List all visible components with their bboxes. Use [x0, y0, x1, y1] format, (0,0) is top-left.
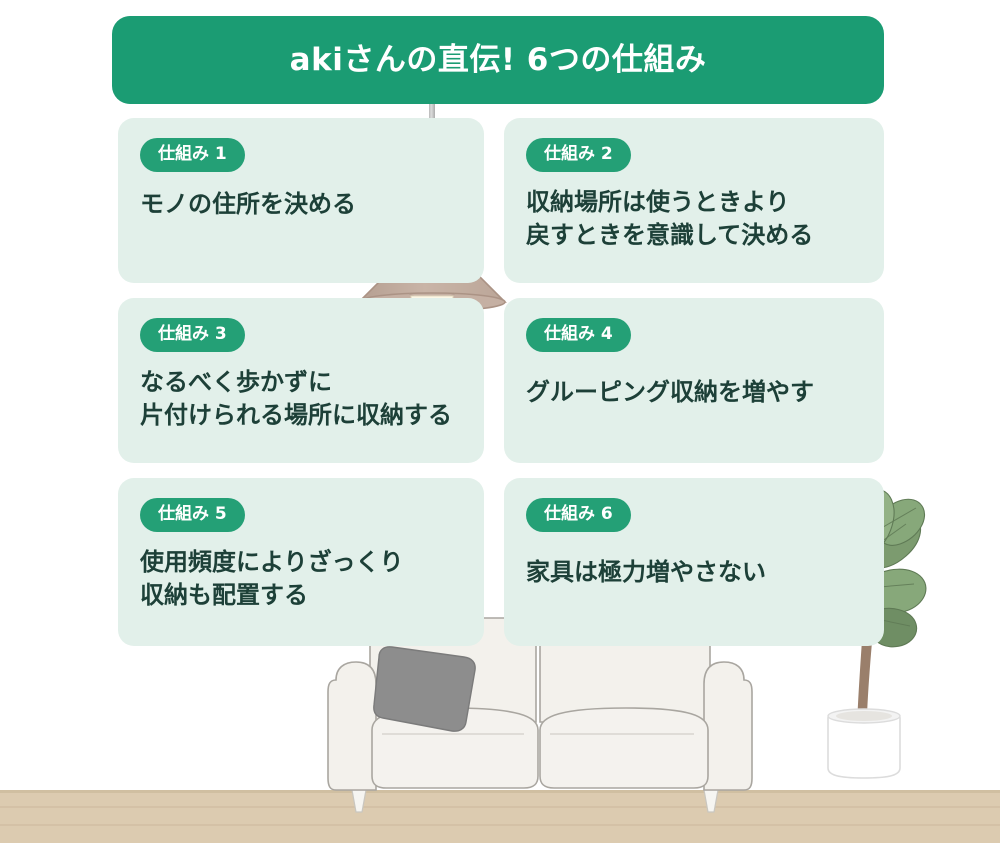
infographic-canvas: akiさんの直伝! 6つの仕組み 仕組み 1 モノの住所を決める 仕組み 2 収… — [0, 0, 1000, 843]
tip-text-2: 収納場所は使うときより 戻すときを意識して決める — [526, 186, 862, 252]
page-title: akiさんの直伝! 6つの仕組み — [290, 45, 707, 76]
cushion — [374, 647, 475, 731]
tip-text-1: モノの住所を決める — [140, 188, 462, 221]
tip-card-5: 仕組み 5 使用頻度によりざっくり 収納も配置する — [118, 478, 484, 646]
tip-card-6: 仕組み 6 家具は極力増やさない — [504, 478, 884, 646]
sofa-group — [328, 618, 752, 812]
tip-card-4: 仕組み 4 グルーピング収納を増やす — [504, 298, 884, 463]
tip-text-6: 家具は極力増やさない — [526, 556, 862, 589]
tip-card-2: 仕組み 2 収納場所は使うときより 戻すときを意識して決める — [504, 118, 884, 283]
tip-badge-4: 仕組み 4 — [526, 318, 631, 352]
wood-floor-group — [0, 790, 1000, 843]
tip-badge-6: 仕組み 6 — [526, 498, 631, 532]
tip-text-5: 使用頻度によりざっくり 収納も配置する — [140, 546, 462, 612]
tip-text-3: なるべく歩かずに 片付けられる場所に収納する — [140, 366, 462, 432]
header-banner: akiさんの直伝! 6つの仕組み — [112, 16, 884, 104]
tip-text-4: グルーピング収納を増やす — [526, 376, 862, 409]
tip-card-3: 仕組み 3 なるべく歩かずに 片付けられる場所に収納する — [118, 298, 484, 463]
tip-badge-1: 仕組み 1 — [140, 138, 245, 172]
tip-badge-5: 仕組み 5 — [140, 498, 245, 532]
tip-badge-2: 仕組み 2 — [526, 138, 631, 172]
tip-card-1: 仕組み 1 モノの住所を決める — [118, 118, 484, 283]
tip-badge-3: 仕組み 3 — [140, 318, 245, 352]
